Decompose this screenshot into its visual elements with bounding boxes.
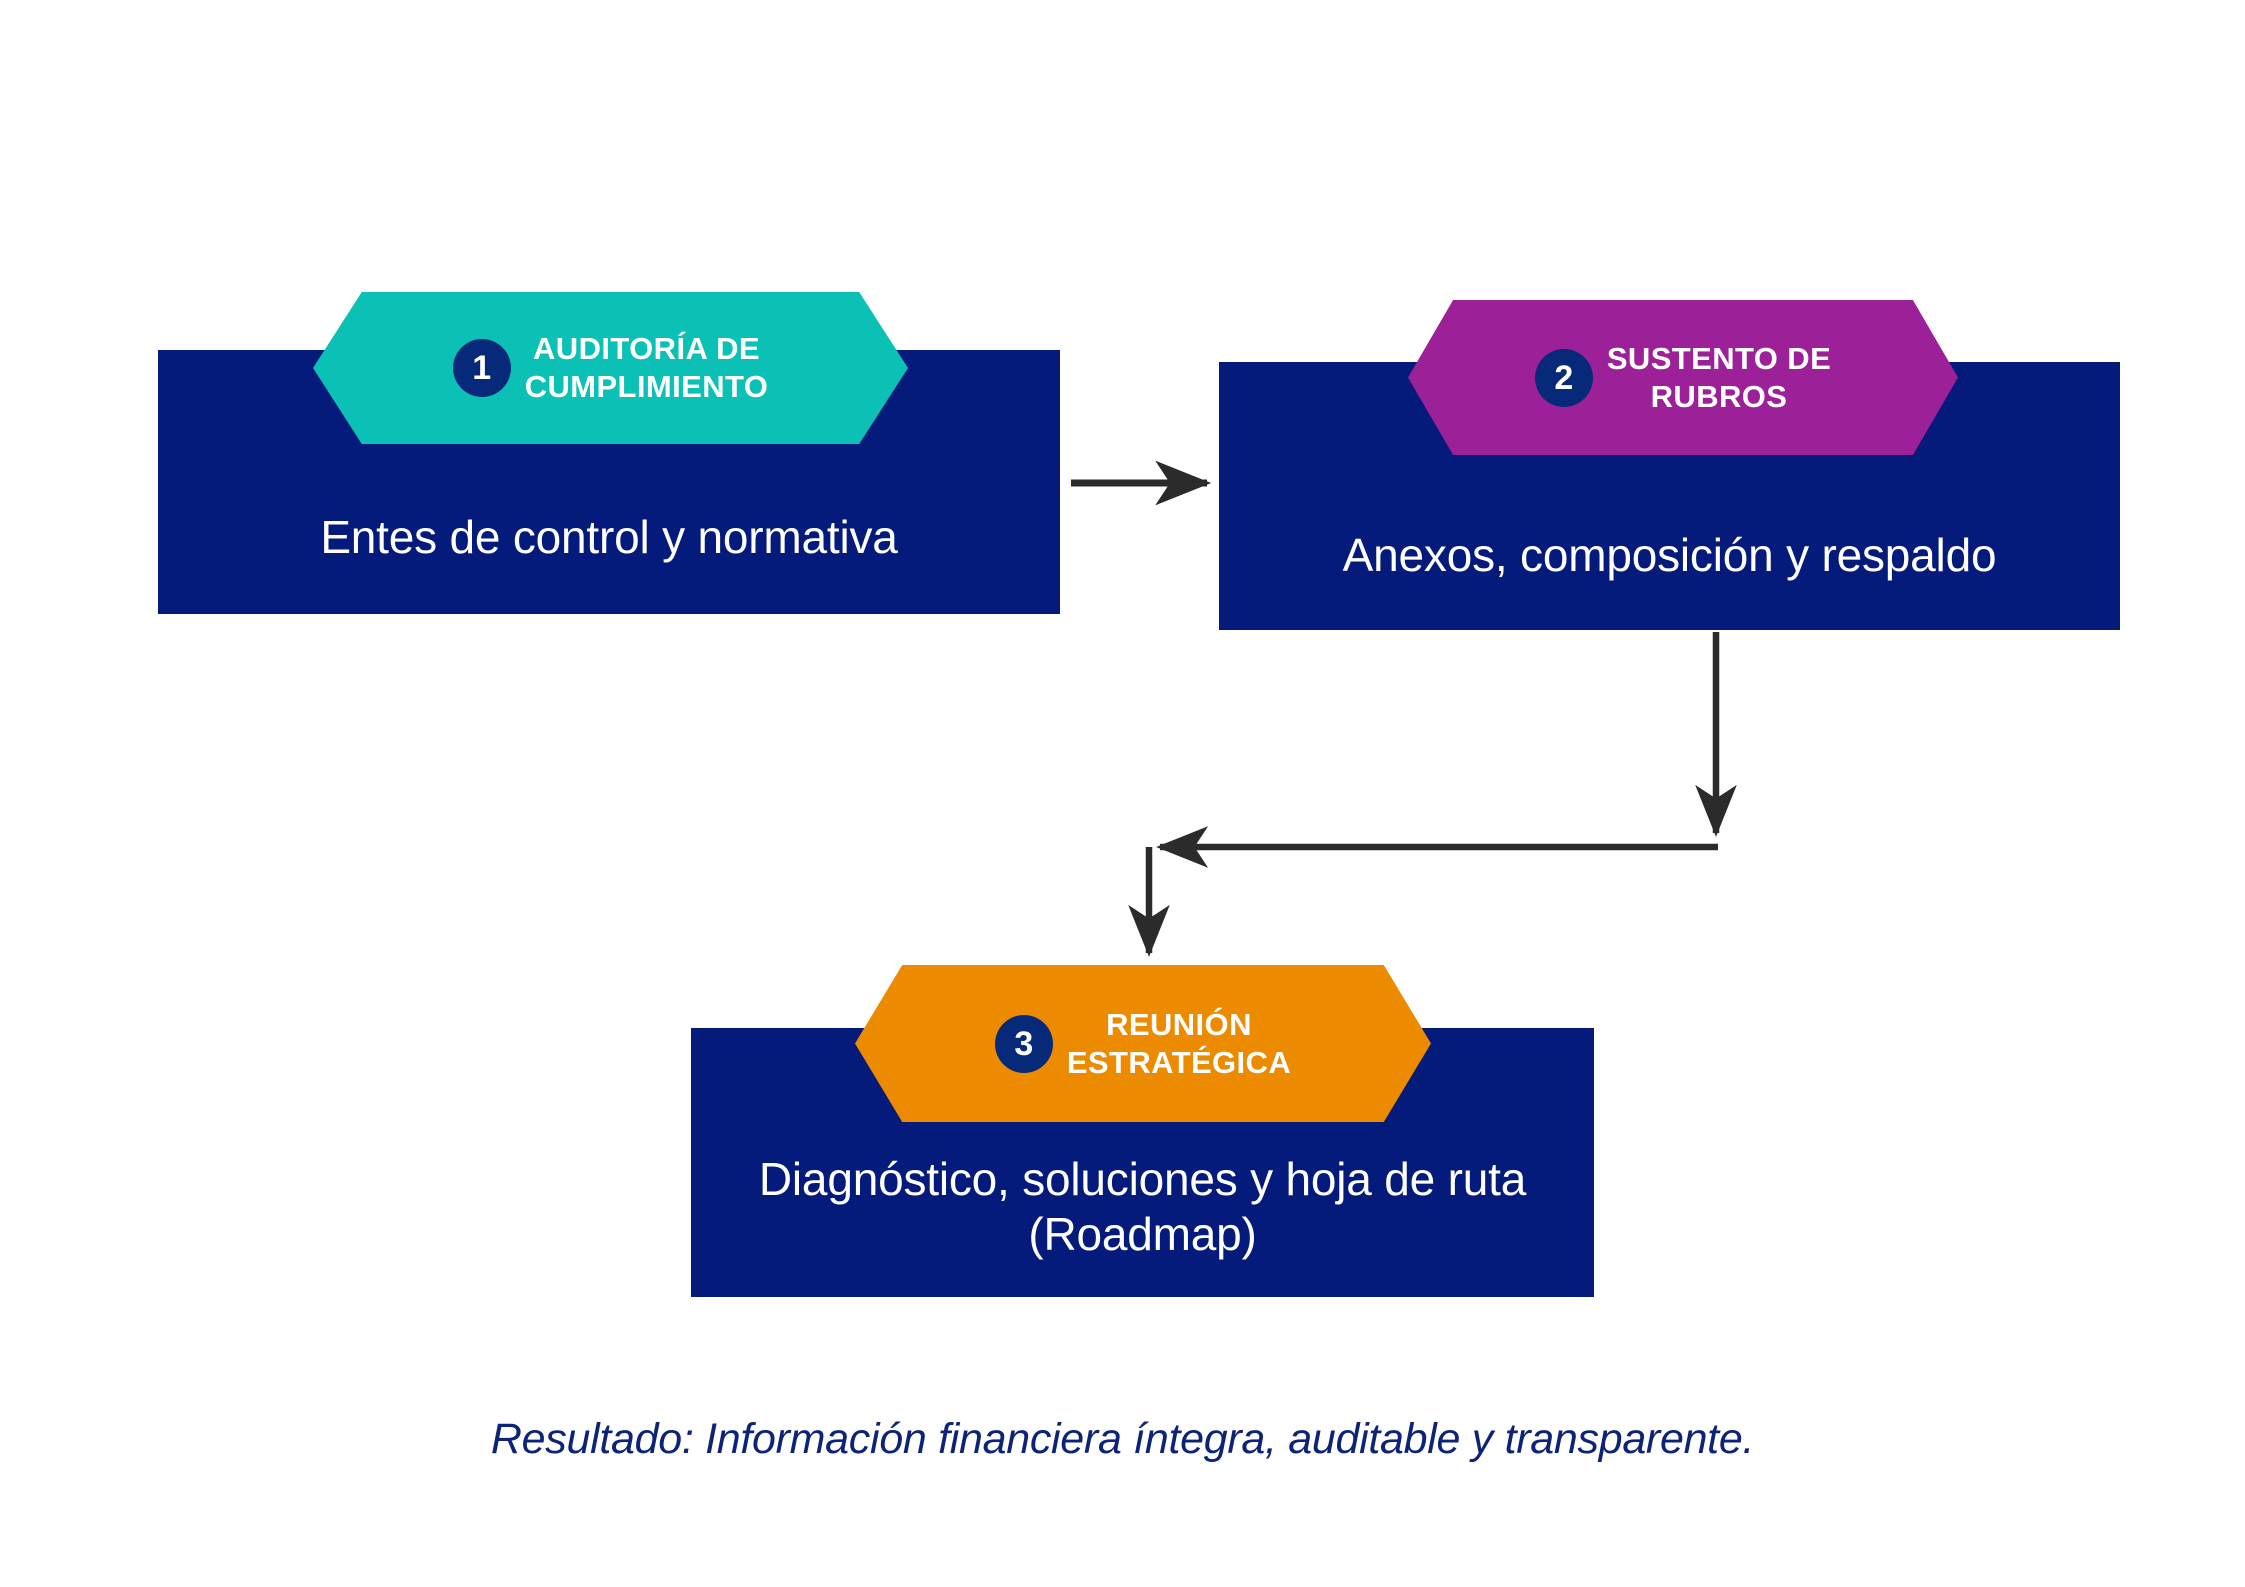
step-1-banner-inner: 1 AUDITORÍA DE CUMPLIMIENTO <box>427 330 795 406</box>
step-3-banner-label: REUNIÓN ESTRATÉGICA <box>1067 1006 1291 1082</box>
connector-layer <box>0 0 2245 1587</box>
step-2-description: Anexos, composición y respaldo <box>1255 528 2084 582</box>
step-1-banner-label: AUDITORÍA DE CUMPLIMIENTO <box>525 330 769 406</box>
step-3-banner[interactable]: 3 REUNIÓN ESTRATÉGICA <box>855 965 1431 1122</box>
result-footer-note: Resultado: Información financiera íntegr… <box>0 1415 2245 1464</box>
diagram-canvas: Entes de control y normativa 1 AUDITORÍA… <box>0 0 2245 1587</box>
step-2-banner-inner: 2 SUSTENTO DE RUBROS <box>1509 340 1857 416</box>
step-1-number-badge: 1 <box>453 339 511 397</box>
step-3-banner-inner: 3 REUNIÓN ESTRATÉGICA <box>969 1006 1317 1082</box>
step-1-banner[interactable]: 1 AUDITORÍA DE CUMPLIMIENTO <box>313 292 908 444</box>
step-2-banner[interactable]: 2 SUSTENTO DE RUBROS <box>1408 300 1958 455</box>
step-2-number-badge: 2 <box>1535 349 1593 407</box>
step-2-banner-label: SUSTENTO DE RUBROS <box>1607 340 1831 416</box>
step-3-number-badge: 3 <box>995 1015 1053 1073</box>
step-3-description: Diagnóstico, soluciones y hoja de ruta (… <box>727 1152 1558 1261</box>
step-1-description: Entes de control y normativa <box>194 510 1024 564</box>
